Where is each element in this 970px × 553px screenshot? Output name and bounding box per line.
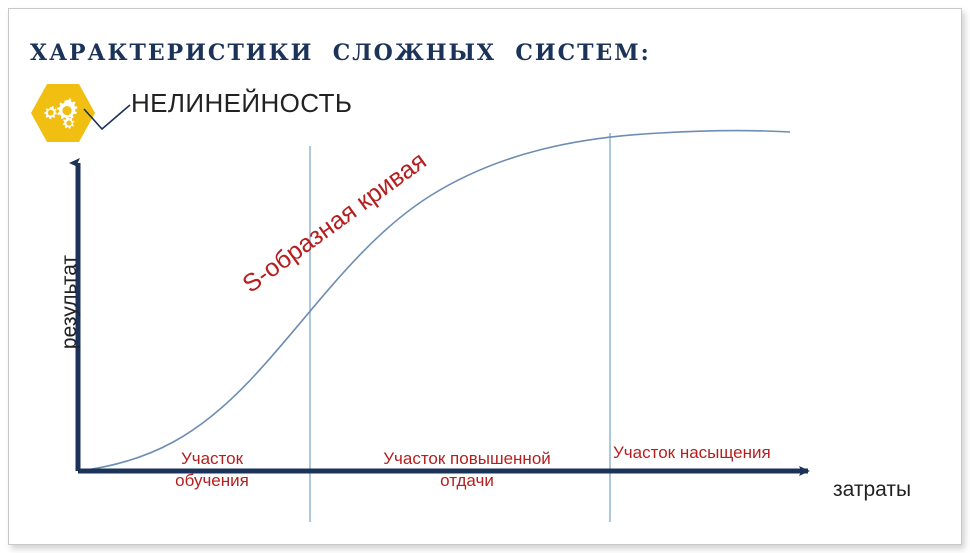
x-axis-label: затраты [833, 478, 911, 502]
slide-root: ХАРАКТЕРИСТИКИ СЛОЖНЫХ СИСТЕМ: НЕЛИНЕЙНО… [0, 0, 970, 553]
y-axis-label: результат [58, 222, 82, 382]
s-curve [79, 131, 790, 471]
page-title: ХАРАКТЕРИСТИКИ СЛОЖНЫХ СИСТЕМ: [30, 40, 651, 66]
zone-label-saturation: Участок насыщения [613, 442, 849, 464]
gears-icon [42, 96, 84, 132]
subtitle-label: НЕЛИНЕЙНОСТЬ [131, 88, 352, 119]
zone-label-high-return: Участок повышенной отдачи [330, 448, 604, 493]
zone-label-learning: Участок обучения [112, 448, 312, 493]
